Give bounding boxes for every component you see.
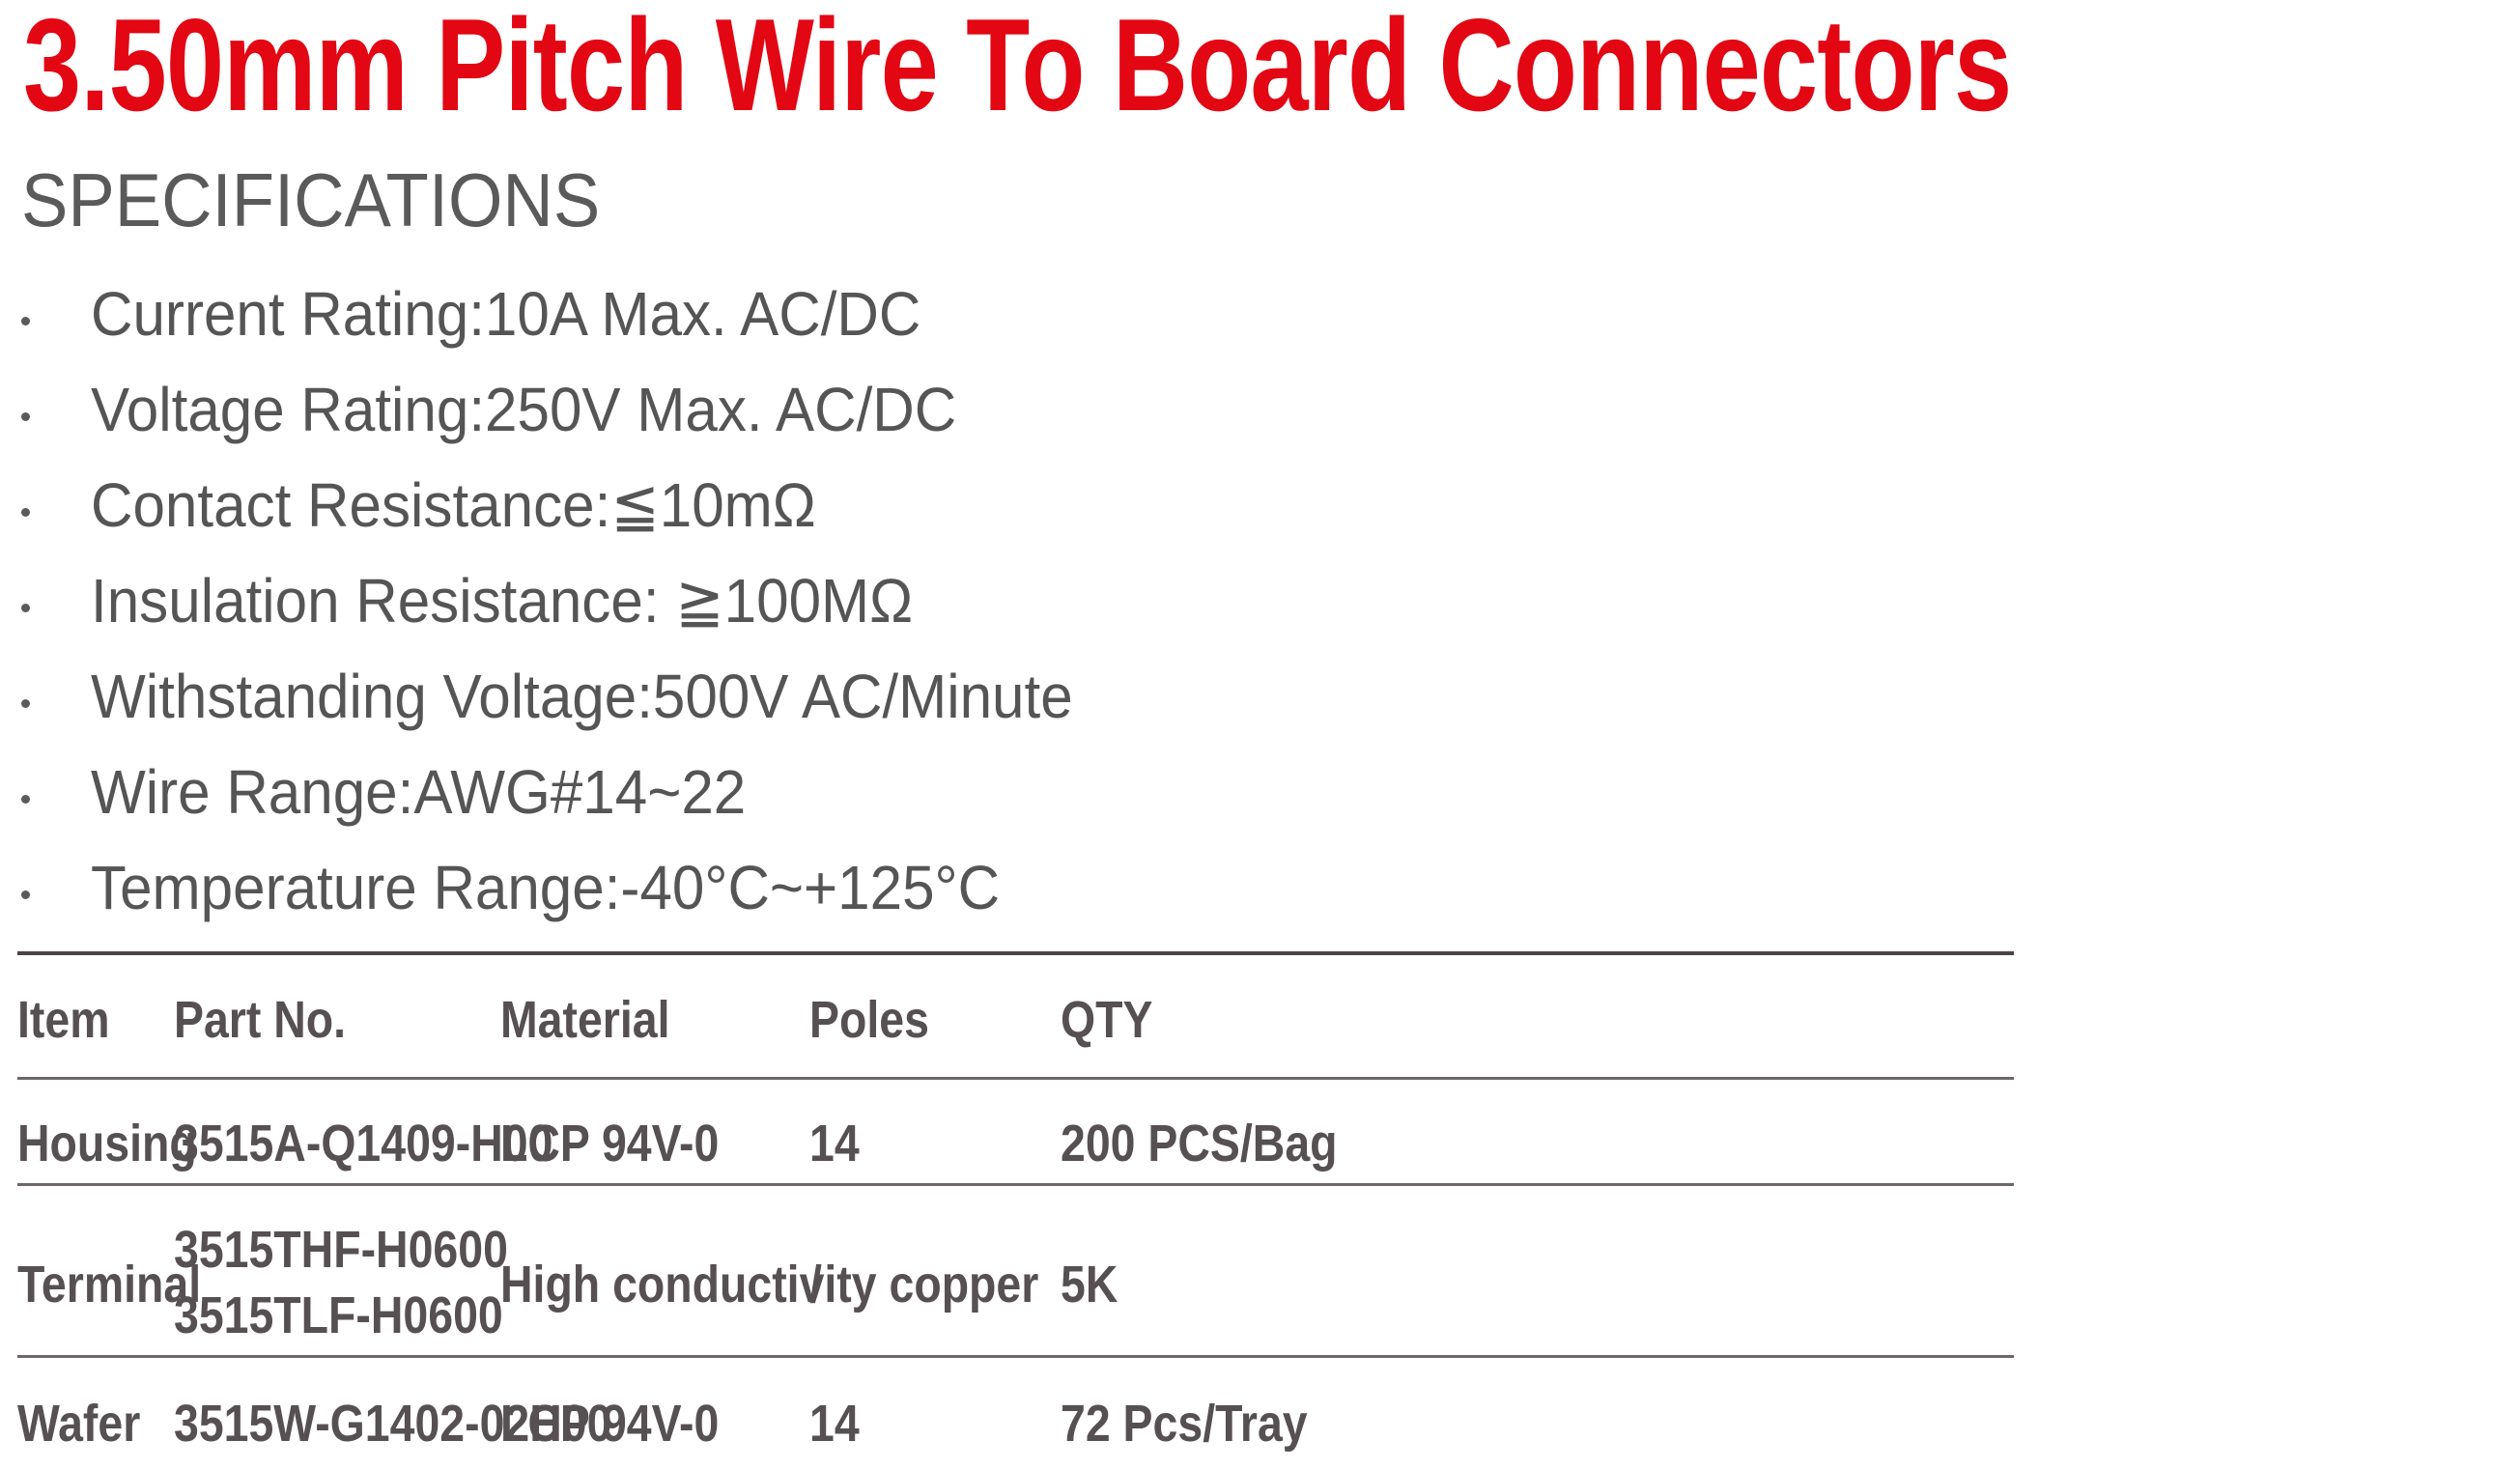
spec-item: Insulation Resistance: ≧100MΩ xyxy=(0,559,2318,655)
cell-qty: 72 Pcs/Tray xyxy=(1061,1394,1308,1454)
spec-item-label: Temperature Range:-40°C~+125°C xyxy=(91,850,1000,925)
column-header-item: Item xyxy=(17,990,110,1050)
spec-item: Wire Range:AWG#14~22 xyxy=(0,750,2318,846)
specifications-list: Current Rating:10A Max. AC/DC Voltage Ra… xyxy=(0,272,2318,942)
column-header-qty: QTY xyxy=(1061,990,1152,1050)
spec-item: Withstanding Voltage:500V AC/Minute xyxy=(0,655,2318,750)
bullet-icon xyxy=(21,508,30,517)
spec-item-label: Voltage Rating:250V Max. AC/DC xyxy=(91,372,956,447)
column-header-poles: Poles xyxy=(809,990,929,1050)
specifications-heading: SPECIFICATIONS xyxy=(21,157,600,242)
spec-item: Contact Resistance:≦10mΩ xyxy=(0,464,2318,559)
table-row: Wafer 3515W-G1402-02H00 LCP 94V-0 14 72 … xyxy=(17,1394,2014,1469)
bullet-icon xyxy=(21,890,30,899)
cell-qty: 5K xyxy=(1061,1255,1118,1314)
table-header-rule xyxy=(17,1077,2014,1080)
column-header-part-no: Part No. xyxy=(174,990,346,1050)
table-row: Terminal 3515THF-H0600 3515TLF-H0600 Hig… xyxy=(17,1214,2014,1359)
cell-qty: 200 PCS/Bag xyxy=(1061,1114,1338,1173)
cell-part-no-2: 3515TLF-H0600 xyxy=(174,1285,503,1345)
table-row-rule xyxy=(17,1355,2014,1358)
cell-part-no: 3515THF-H0600 xyxy=(174,1220,508,1280)
spec-item: Temperature Range:-40°C~+125°C xyxy=(0,846,2318,942)
cell-material: LCP 94V-0 xyxy=(500,1114,719,1173)
table-top-rule xyxy=(17,951,2014,955)
spec-item-label: Contact Resistance:≦10mΩ xyxy=(91,467,816,543)
spec-item-label: Wire Range:AWG#14~22 xyxy=(91,754,746,830)
cell-item: Housing xyxy=(17,1114,197,1173)
bullet-icon xyxy=(21,412,30,421)
table-row-rule xyxy=(17,1183,2014,1186)
cell-part-no: 3515A-Q1409-H00 xyxy=(174,1114,552,1173)
spec-item-label: Insulation Resistance: ≧100MΩ xyxy=(91,563,913,638)
spec-item: Current Rating:10A Max. AC/DC xyxy=(0,272,2318,368)
datasheet-page: 3.50mm Pitch Wire To Board Connectors SP… xyxy=(0,0,2520,1466)
cell-poles: 14 xyxy=(809,1394,860,1454)
bullet-icon xyxy=(21,317,30,325)
cell-poles: 14 xyxy=(809,1114,860,1173)
spec-item-label: Current Rating:10A Max. AC/DC xyxy=(91,276,920,352)
table-row: Housing 3515A-Q1409-H00 LCP 94V-0 14 200… xyxy=(17,1114,2014,1189)
spec-item-label: Withstanding Voltage:500V AC/Minute xyxy=(91,659,1073,734)
bullet-icon xyxy=(21,604,30,612)
bullet-icon xyxy=(21,699,30,708)
cell-material: High conductivity copper xyxy=(500,1255,1038,1314)
bullet-icon xyxy=(21,795,30,804)
cell-material: LCP 94V-0 xyxy=(500,1394,719,1454)
column-header-material: Material xyxy=(500,990,670,1050)
page-title: 3.50mm Pitch Wire To Board Connectors xyxy=(23,0,2011,137)
cell-item: Wafer xyxy=(17,1394,140,1454)
spec-item: Voltage Rating:250V Max. AC/DC xyxy=(0,368,2318,464)
table-header-row: Item Part No. Material Poles QTY xyxy=(17,990,2014,1069)
cell-poles: / xyxy=(809,1255,822,1314)
